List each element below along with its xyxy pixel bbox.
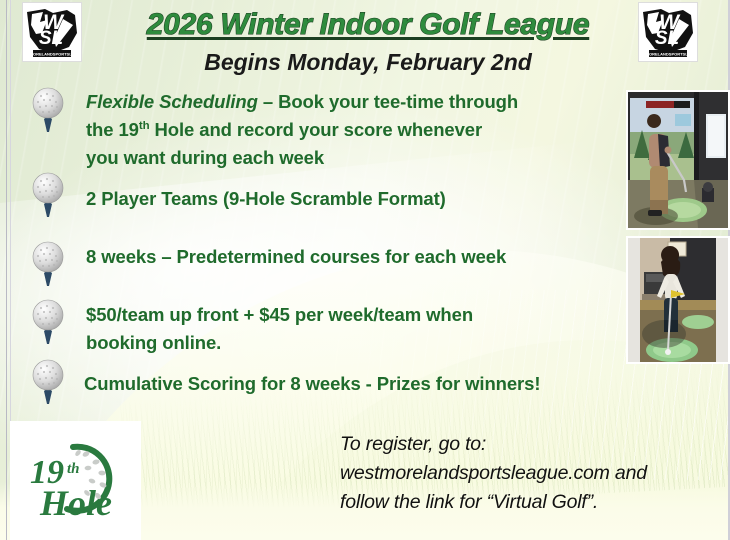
bullet-line3: you want during each week bbox=[86, 147, 324, 168]
golf-league-flyer: W SL WESTMORELANDSPORTSLEAGUE W SL WESTM… bbox=[0, 0, 730, 540]
bullet-line2-pre: the 19 bbox=[86, 119, 139, 140]
bullet-flexible-scheduling: Flexible Scheduling – Book your tee-time… bbox=[86, 88, 631, 172]
bullet-team-format: 2 Player Teams (9-Hole Scramble Format) bbox=[86, 185, 631, 213]
hole19-logo: 19 th Hole bbox=[10, 421, 141, 540]
golf-ball-tee-icon bbox=[27, 240, 69, 290]
hole19-word: Hole bbox=[39, 483, 112, 523]
bullet-duration: 8 weeks – Predetermined courses for each… bbox=[86, 243, 646, 271]
bullet-line2-post: Hole and record your score whenever bbox=[150, 119, 483, 140]
bullet-scoring: Cumulative Scoring for 8 weeks - Prizes … bbox=[84, 370, 664, 398]
golf-ball-tee-icon bbox=[27, 298, 69, 348]
hole19-suffix: th bbox=[67, 461, 80, 477]
wsl-logo-footer-text: WESTMORELANDSPORTSLEAGUE bbox=[639, 52, 697, 57]
photo-indoor-putting bbox=[626, 236, 730, 364]
wsl-logo-footer-text: WESTMORELANDSPORTSLEAGUE bbox=[23, 52, 81, 57]
register-line-1: To register, go to: bbox=[340, 430, 720, 459]
wsl-logo-icon: W SL WESTMORELANDSPORTSLEAGUE bbox=[639, 3, 697, 61]
register-line-3: follow the link for “Virtual Golf”. bbox=[340, 488, 720, 517]
bullet-line1-rest: – Book your tee-time through bbox=[258, 91, 518, 112]
flyer-title: 2026 Winter Indoor Golf League bbox=[98, 8, 638, 42]
bullet-pricing-line2: booking online. bbox=[86, 332, 221, 353]
flyer-subtitle: Begins Monday, February 2nd bbox=[98, 49, 638, 76]
photo-golf-simulator-swing bbox=[626, 90, 730, 230]
bullet-pricing: $50/team up front + $45 per week/team wh… bbox=[86, 301, 606, 357]
wsl-logo-right: W SL WESTMORELANDSPORTSLEAGUE bbox=[638, 2, 698, 62]
register-line-2[interactable]: westmorelandsportsleague.com and bbox=[340, 459, 720, 488]
wsl-logo-icon: W SL WESTMORELANDSPORTSLEAGUE bbox=[23, 3, 81, 61]
golf-ball-tee-icon bbox=[27, 86, 69, 136]
golf-ball-tee-icon bbox=[27, 171, 69, 221]
bullet-pricing-line1: $50/team up front + $45 per week/team wh… bbox=[86, 304, 473, 325]
bullet-line2-sup: th bbox=[139, 120, 150, 132]
register-instructions: To register, go to: westmorelandsportsle… bbox=[340, 430, 720, 517]
golf-ball-tee-icon bbox=[27, 358, 69, 408]
bullet-lead: Flexible Scheduling bbox=[86, 91, 258, 112]
hole19-logo-icon: 19 th Hole bbox=[10, 421, 141, 540]
wsl-logo-left: W SL WESTMORELANDSPORTSLEAGUE bbox=[22, 2, 82, 62]
